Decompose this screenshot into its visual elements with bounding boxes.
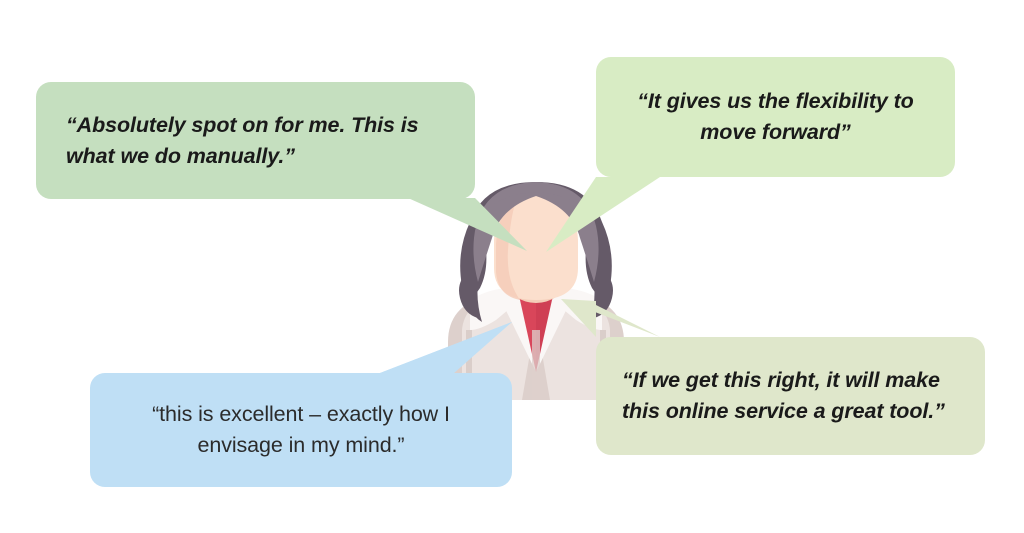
quote-text-bottom-right: “If we get this right, it will make this… bbox=[622, 365, 959, 426]
quote-text-top-right: “It gives us the flexibility to move for… bbox=[622, 86, 929, 147]
quote-bubble-bottom-right[interactable]: “If we get this right, it will make this… bbox=[596, 337, 985, 455]
quote-bubbles: “Absolutely spot on for me. This is what… bbox=[0, 0, 1024, 533]
quote-bubble-top-left[interactable]: “Absolutely spot on for me. This is what… bbox=[36, 82, 475, 199]
quote-bubble-top-right[interactable]: “It gives us the flexibility to move for… bbox=[596, 57, 955, 177]
quote-bubble-bottom-left[interactable]: “this is excellent – exactly how I envis… bbox=[90, 373, 512, 487]
testimonial-quotes-graphic: “Absolutely spot on for me. This is what… bbox=[0, 0, 1024, 533]
quote-text-bottom-left: “this is excellent – exactly how I envis… bbox=[116, 399, 486, 460]
quote-text-top-left: “Absolutely spot on for me. This is what… bbox=[66, 110, 445, 171]
